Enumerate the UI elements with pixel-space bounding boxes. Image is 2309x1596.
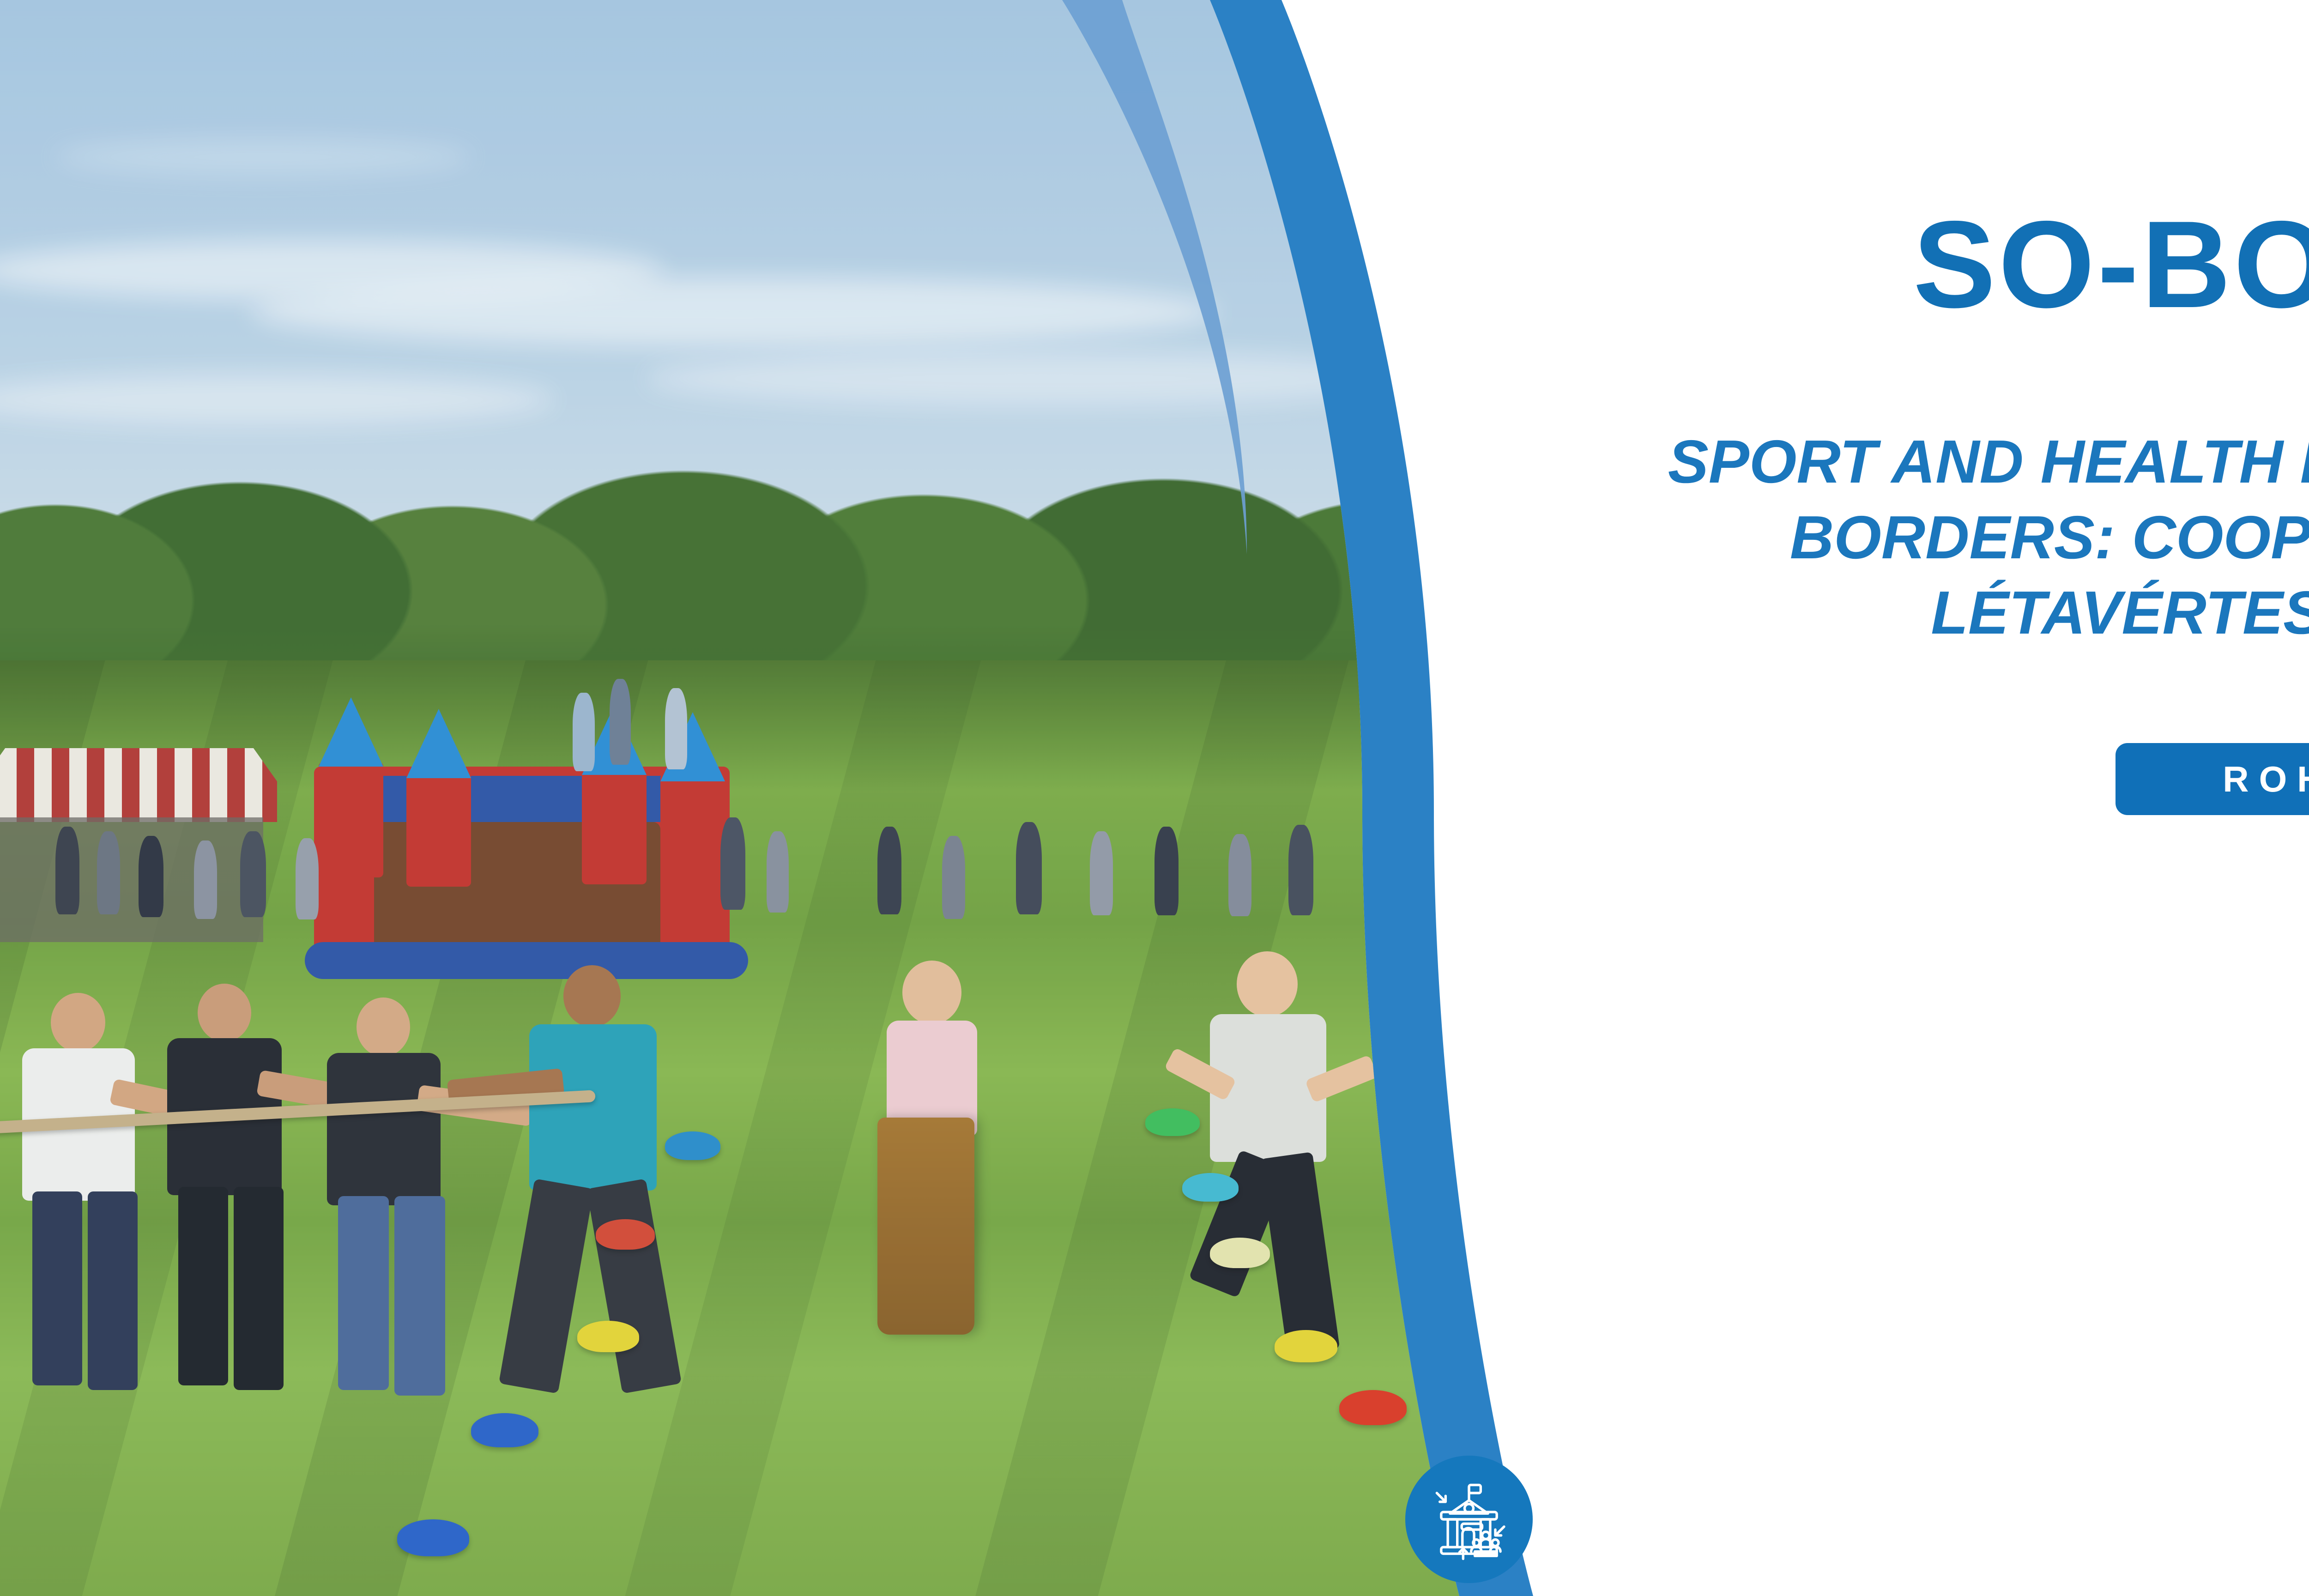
page-title: SO-BORDERS [1913,202,2309,326]
photo-tint-overlay [0,0,1501,1596]
project-subtitle: Sport and health prevention over the bor… [1635,424,2309,651]
photo-scene [0,0,1501,1596]
institution-cooperation-icon [1425,1475,1513,1563]
poster-root: SO-BORDERS Sport and health prevention o… [0,0,2309,1596]
event-photo [0,0,1501,1596]
project-code-badge: ROHU 057 [2116,743,2309,815]
content-panel: SO-BORDERS Sport and health prevention o… [1501,0,2309,1596]
